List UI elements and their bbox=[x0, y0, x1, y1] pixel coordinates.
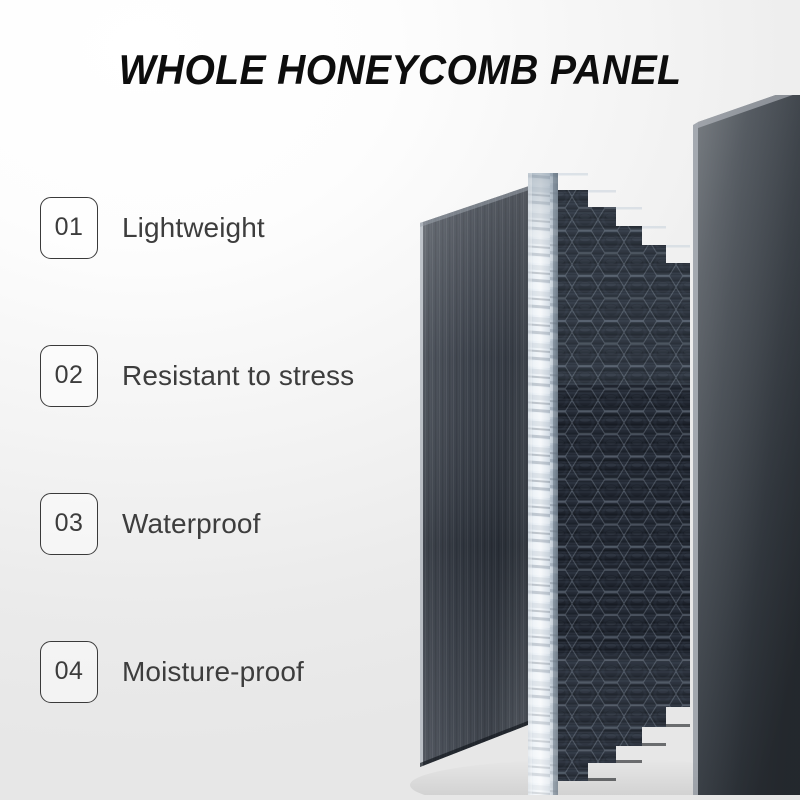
feature-item-04: 04 Moisture-proof bbox=[40, 640, 460, 703]
feature-label-03: Waterproof bbox=[122, 508, 260, 540]
core-front-edge-highlight bbox=[528, 173, 558, 795]
feature-number-03: 03 bbox=[55, 511, 84, 536]
honeycomb-core bbox=[520, 155, 710, 795]
feature-item-03: 03 Waterproof bbox=[40, 492, 460, 555]
feature-number-badge-03: 03 bbox=[40, 493, 98, 555]
product-feature-poster: WHOLE HONEYCOMB PANEL 01 Lightweight 02 … bbox=[0, 0, 800, 800]
feature-item-02: 02 Resistant to stress bbox=[40, 344, 460, 407]
feature-item-01: 01 Lightweight bbox=[40, 196, 460, 259]
feature-number-04: 04 bbox=[55, 659, 84, 684]
feature-label-01: Lightweight bbox=[122, 212, 265, 244]
feature-label-02: Resistant to stress bbox=[122, 360, 354, 392]
feature-number-badge-02: 02 bbox=[40, 345, 98, 407]
feature-number-badge-04: 04 bbox=[40, 641, 98, 703]
page-title: WHOLE HONEYCOMB PANEL bbox=[28, 46, 772, 94]
feature-list: 01 Lightweight 02 Resistant to stress 03… bbox=[40, 196, 460, 703]
feature-number-02: 02 bbox=[55, 363, 84, 388]
feature-label-04: Moisture-proof bbox=[122, 656, 304, 688]
hexagonal-cells bbox=[550, 155, 710, 795]
feature-number-badge-01: 01 bbox=[40, 197, 98, 259]
front-skin-panel bbox=[693, 95, 800, 795]
feature-number-01: 01 bbox=[55, 215, 84, 240]
